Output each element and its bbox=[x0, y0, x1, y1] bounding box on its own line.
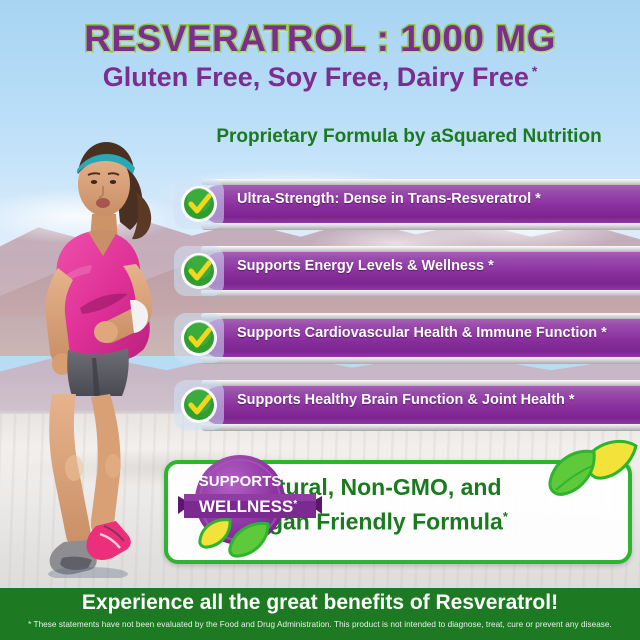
footer-disclaimer: * These statements have not been evaluat… bbox=[0, 620, 640, 629]
subtitle: Gluten Free, Soy Free, Dairy Free* bbox=[0, 62, 640, 93]
page-title: RESVERATROL : 1000 MG bbox=[0, 18, 640, 60]
footer-headline: Experience all the great benefits of Res… bbox=[0, 591, 640, 615]
benefit-row: Supports Cardiovascular Health & Immune … bbox=[173, 312, 640, 379]
benefit-label: Supports Cardiovascular Health & Immune … bbox=[237, 325, 632, 341]
benefit-row: Ultra-Strength: Dense in Trans-Resveratr… bbox=[173, 178, 640, 245]
product-marketing-image: RESVERATROL : 1000 MG Gluten Free, Soy F… bbox=[0, 0, 640, 640]
formula-heading: Proprietary Formula by aSquared Nutritio… bbox=[178, 126, 640, 148]
supports-wellness-badge: SUPPORTS WELLNESS* bbox=[176, 450, 326, 566]
green-check-icon bbox=[173, 178, 225, 230]
benefit-label: Supports Healthy Brain Function & Joint … bbox=[237, 392, 632, 408]
benefit-label: Supports Energy Levels & Wellness * bbox=[237, 258, 632, 274]
benefits-list: Ultra-Strength: Dense in Trans-Resveratr… bbox=[173, 178, 640, 446]
green-check-icon bbox=[173, 312, 225, 364]
benefit-row: Supports Energy Levels & Wellness * bbox=[173, 245, 640, 312]
natural-asterisk: * bbox=[503, 509, 508, 524]
benefit-row: Supports Healthy Brain Function & Joint … bbox=[173, 379, 640, 446]
benefit-label: Ultra-Strength: Dense in Trans-Resveratr… bbox=[237, 191, 632, 207]
green-check-icon bbox=[173, 245, 225, 297]
subtitle-asterisk: * bbox=[532, 63, 537, 79]
badge-line-2: WELLNESS* bbox=[199, 497, 297, 516]
badge-line-1: SUPPORTS bbox=[199, 473, 282, 490]
subtitle-text: Gluten Free, Soy Free, Dairy Free bbox=[103, 62, 529, 92]
green-check-icon bbox=[173, 379, 225, 431]
